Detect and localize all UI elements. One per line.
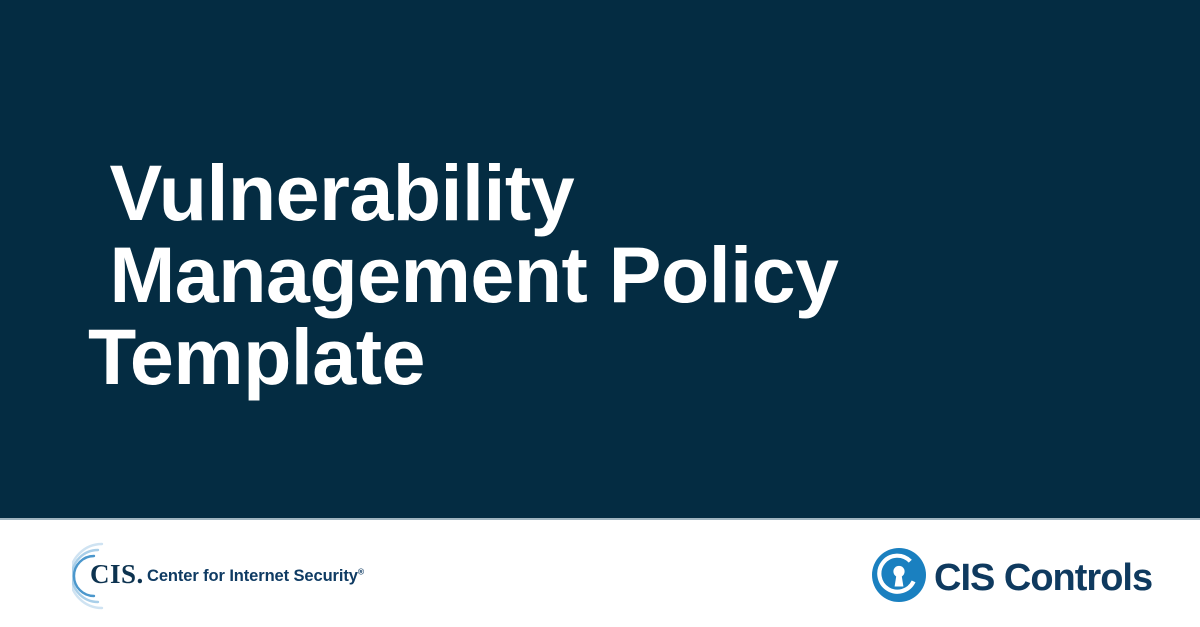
page-title-line-3: Template — [88, 316, 1128, 398]
cis-tagline-text: Center for Internet Security — [147, 567, 358, 585]
page-title-line-2: Management Policy — [88, 234, 1128, 316]
registered-mark-icon: ® — [358, 567, 364, 577]
cis-tagline: Center for Internet Security® — [147, 566, 364, 586]
page-title-line-1: Vulnerability — [88, 152, 1128, 234]
cis-logo: CIS. Center for Internet Security® — [72, 540, 362, 612]
cis-monogram: CIS. — [90, 559, 144, 589]
footer-bar: CIS. Center for Internet Security® CIS C… — [0, 520, 1200, 627]
page-title: Vulnerability Management Policy Template — [88, 152, 1128, 398]
keyhole-circle-icon — [872, 548, 926, 602]
title-card: Vulnerability Management Policy Template… — [0, 0, 1200, 627]
hero-panel: Vulnerability Management Policy Template — [0, 0, 1200, 518]
cis-controls-label: CIS Controls — [934, 557, 1152, 599]
cis-controls-logo: CIS Controls — [872, 540, 1152, 610]
